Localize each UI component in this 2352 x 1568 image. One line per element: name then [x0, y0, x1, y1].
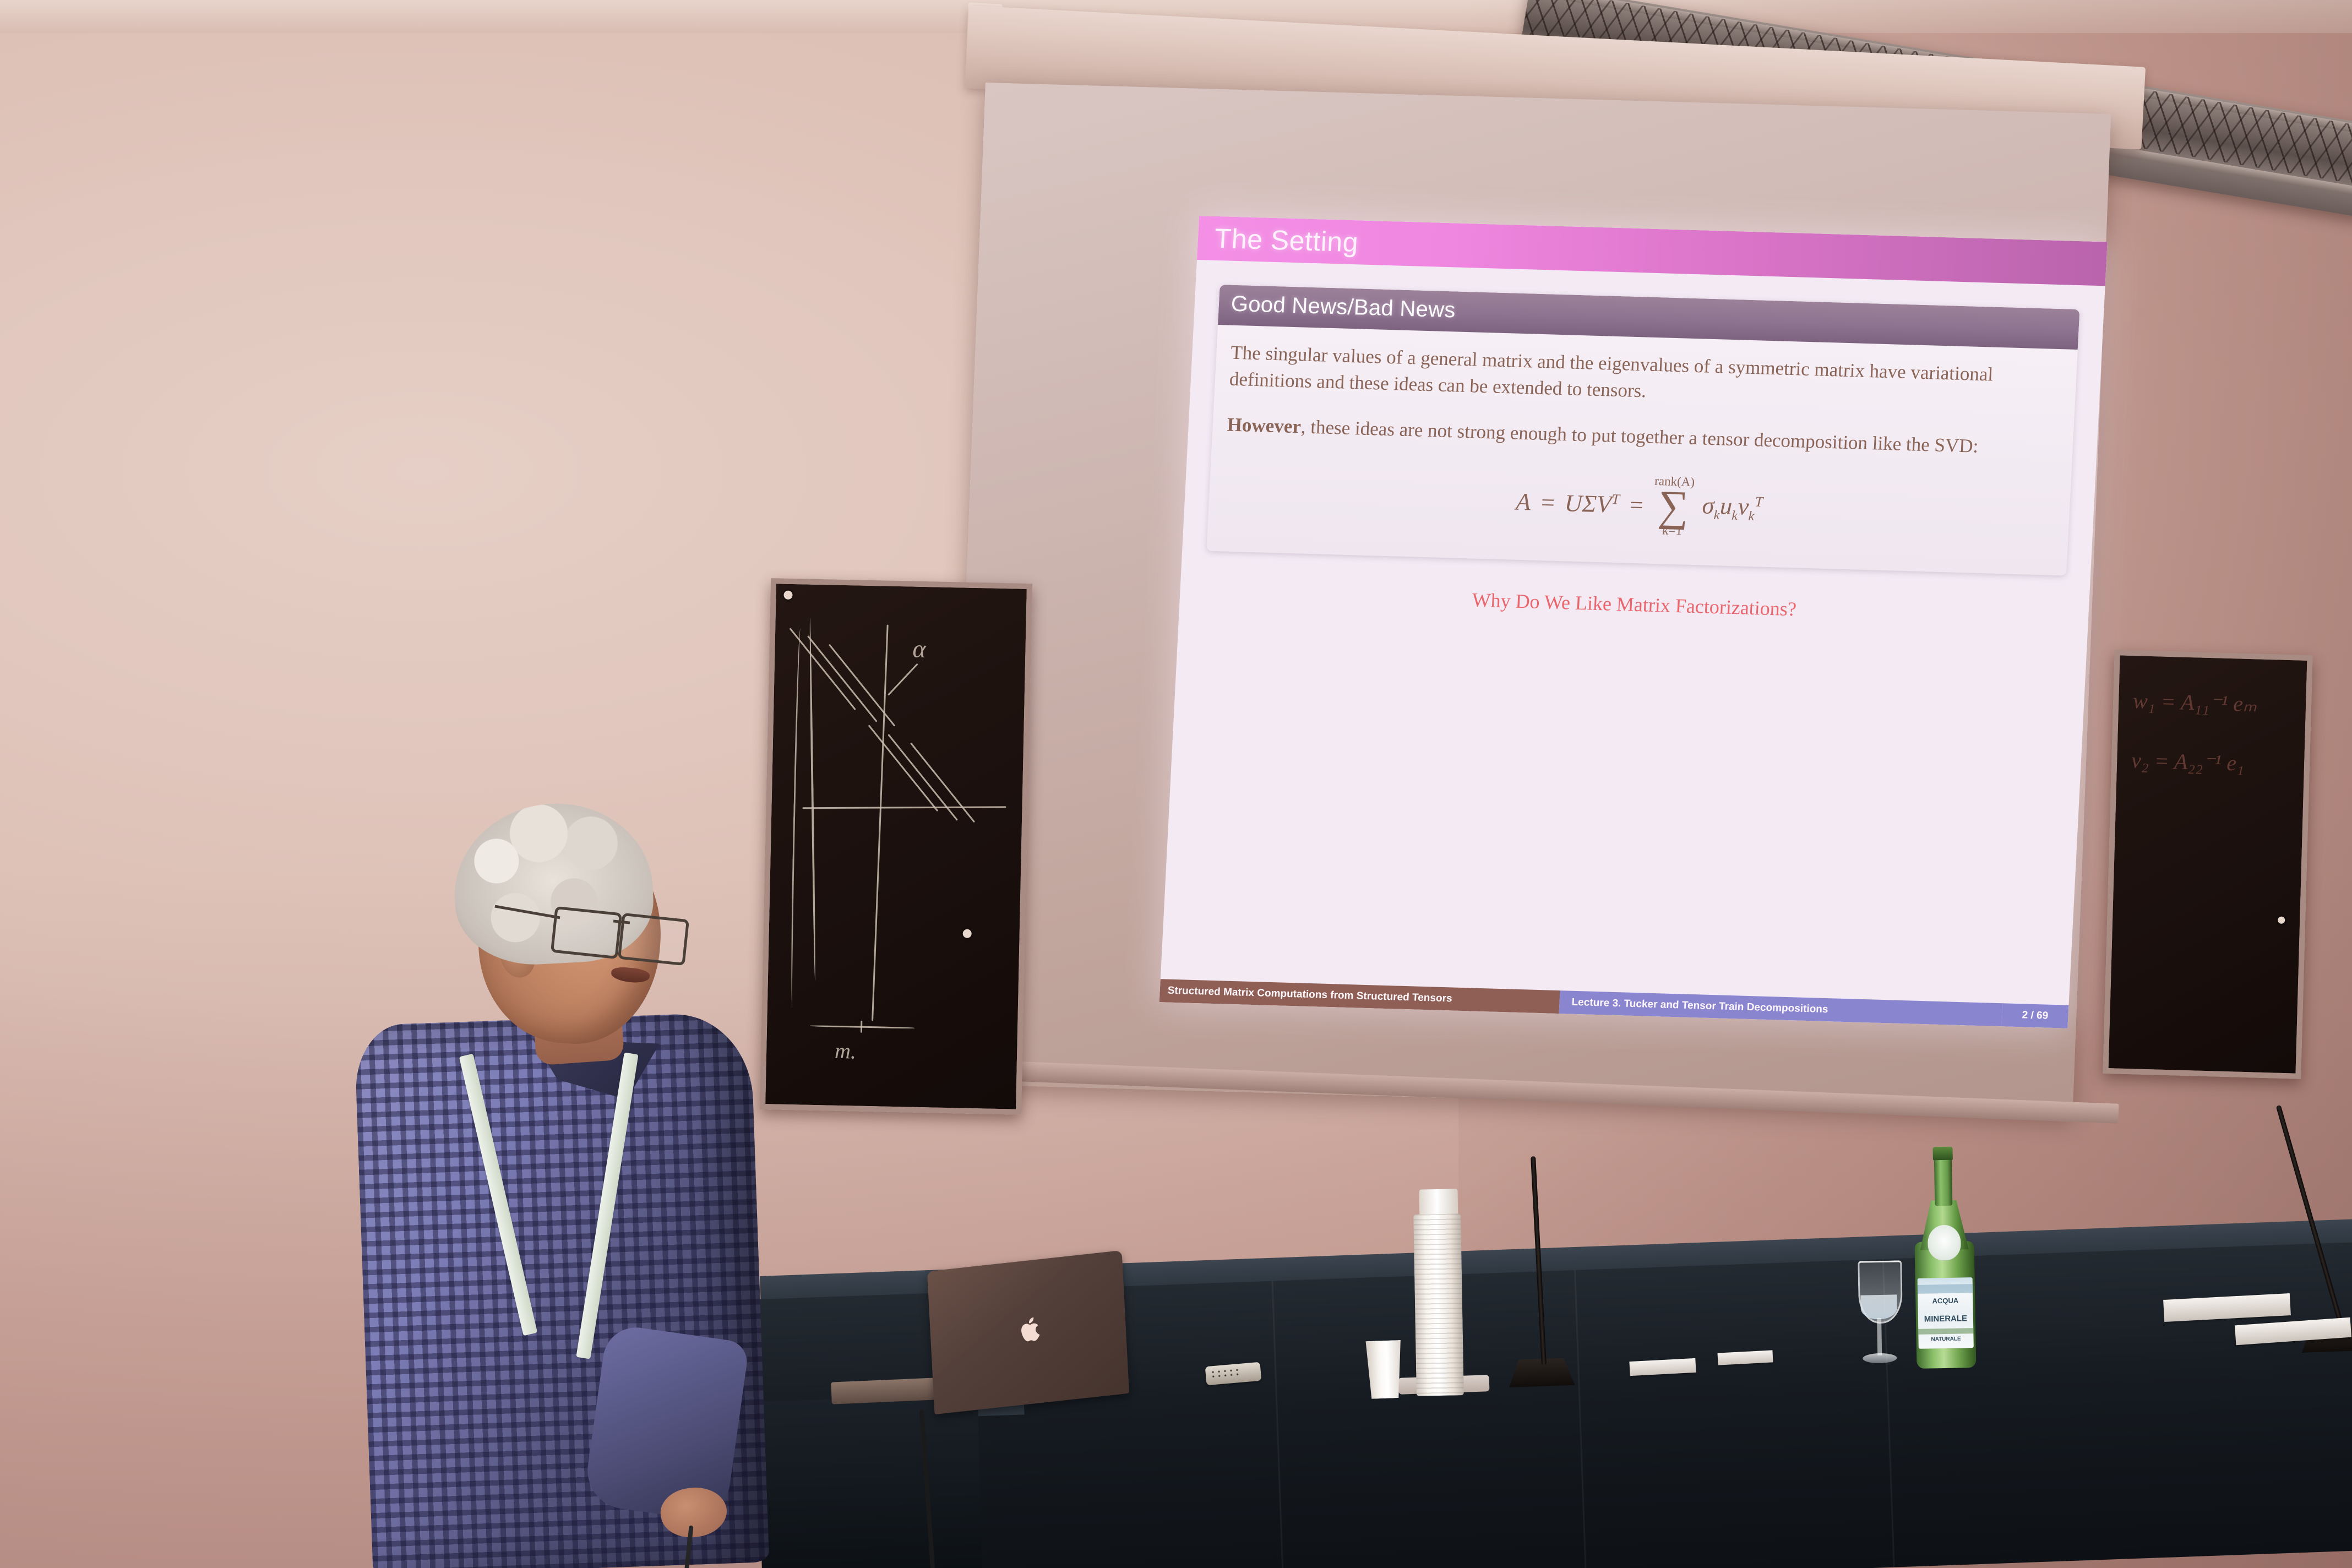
presenter [352, 793, 947, 1568]
presenter-arm [582, 1324, 749, 1523]
eq-equals-1: = [1539, 488, 1556, 516]
eq-equals-2: = [1627, 491, 1645, 519]
sigma-glyph: ∑ [1657, 487, 1690, 525]
water-glass[interactable] [1853, 1260, 1904, 1371]
blackboard-alpha-label: α [912, 634, 926, 663]
apple-logo-icon [1018, 1315, 1044, 1344]
blackboard-right: w₁ = A₁₁⁻¹ eₘ v₂ = A₂₂⁻¹ e₁ [2103, 650, 2312, 1079]
paragraph-one: The singular values of a general matrix … [1229, 340, 2063, 417]
eq-lhs: A [1515, 487, 1531, 516]
svd-equation: A = UΣVT = rank(A) ∑ k=1 σkukvkT [1222, 462, 2056, 548]
bottle-neck-label [1928, 1224, 1961, 1260]
bottle-label-main-text: MINERALE [1918, 1314, 1973, 1324]
slide-tagline: Why Do We Like Matrix Factorizations? [1204, 581, 2065, 629]
paragraph-two: However, these ideas are not strong enou… [1227, 411, 2059, 462]
eyeglasses-lens-left [551, 906, 622, 959]
bottle-label: ACQUA MINERALE NATURALE [1918, 1277, 1974, 1349]
bottle-cap [1932, 1147, 1952, 1161]
bottle-label-top-text: ACQUA [1918, 1296, 1973, 1305]
slide-content-block: Good News/Bad News The singular values o… [1206, 285, 2079, 576]
however-rest: , these ideas are not strong enough to p… [1300, 416, 1979, 456]
lecture-room-photo: The Setting Good News/Bad News The singu… [0, 0, 2352, 1568]
plastic-cup-stack[interactable] [1413, 1213, 1464, 1396]
eq-usv-transpose: T [1611, 491, 1620, 507]
summation-operator: rank(A) ∑ k=1 [1652, 475, 1695, 537]
however-lead: However [1227, 413, 1302, 437]
slide-title: The Setting [1197, 222, 1359, 258]
blackboard-right-line-1: w₁ = A₁₁⁻¹ eₘ [2133, 688, 2257, 717]
sum-lower-limit: k=1 [1662, 524, 1683, 537]
block-heading-text: Good News/Bad News [1231, 292, 1456, 323]
projected-slide: The Setting Good News/Bad News The singu… [1159, 216, 2108, 1028]
blackboard-right-line-2: v₂ = A₂₂⁻¹ e₁ [2131, 747, 2245, 776]
eq-usv: UΣVT [1564, 489, 1620, 519]
bottle-label-sub-text: NATURALE [1918, 1336, 1973, 1343]
mineral-water-bottle[interactable]: ACQUA MINERALE NATURALE [1913, 1147, 1977, 1369]
footer-page-number: 2 / 69 [2001, 1003, 2068, 1028]
block-body: The singular values of a general matrix … [1206, 325, 2078, 576]
eq-summand: σkukvkT [1701, 491, 1763, 524]
slide-body: Good News/Bad News The singular values o… [1179, 260, 2105, 629]
